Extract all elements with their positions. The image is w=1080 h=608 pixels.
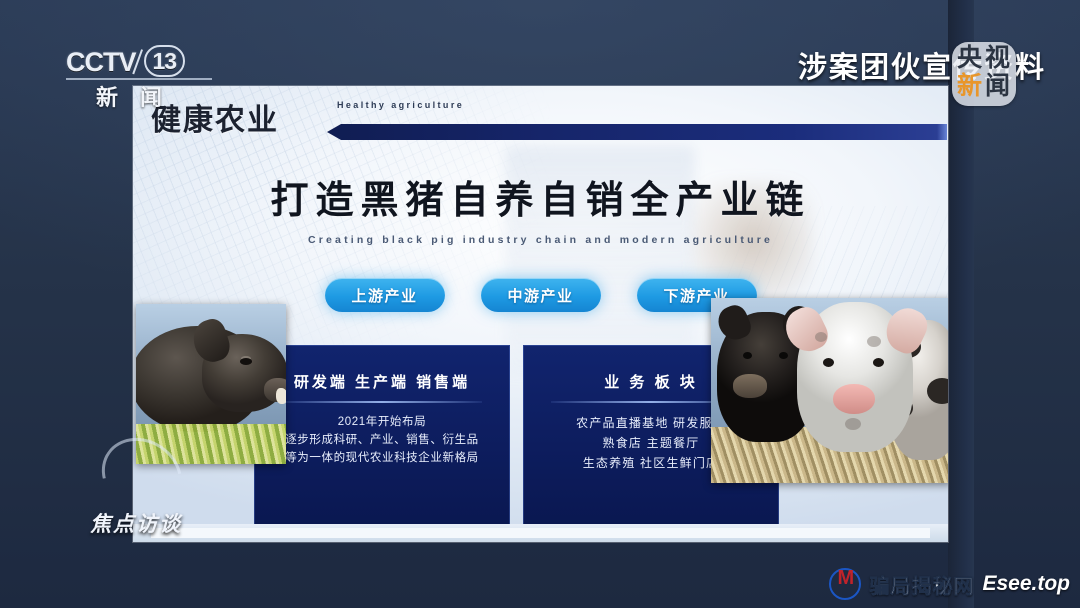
card-left-line-1: 2021年开始布局 [266, 413, 498, 431]
site-logo-icon [829, 568, 861, 600]
badge-char-shi: 视 [985, 46, 1010, 71]
cctv-channel-number: 13 [144, 45, 186, 77]
badge-char-yang: 央 [957, 46, 982, 71]
card-left-line-3: 等为一体的现代农业科技企业新格局 [266, 449, 498, 467]
pill-midstream[interactable]: 中游产业 [481, 278, 601, 312]
pill-upstream[interactable]: 上游产业 [325, 278, 445, 312]
left-arrow-bar-icon [327, 124, 947, 140]
card-title-left: 研发端 生产端 销售端 [254, 371, 510, 392]
card-body-left: 2021年开始布局 逐步形成科研、产业、销售、衍生品 等为一体的现代农业科技企业… [266, 413, 498, 467]
slide-footer-strip [133, 524, 948, 542]
program-logo: 焦点访谈 [90, 508, 182, 538]
black-pig-photo [136, 304, 286, 464]
piglets-photo [711, 298, 948, 483]
card-left-line-2: 逐步形成科研、产业、销售、衍生品 [266, 431, 498, 449]
broadcast-frame: 健康农业 Healthy agriculture 打造黑猪自养自销全产业链 Cr… [0, 0, 1080, 608]
presentation-slide: 健康农业 Healthy agriculture 打造黑猪自养自销全产业链 Cr… [133, 86, 948, 542]
site-watermark: 骗局揭秘网 Esee.top [829, 568, 1070, 600]
cctv-news-watermark-badge: 央 视 新 闻 [952, 42, 1016, 106]
site-watermark-cn: 骗局揭秘网 [869, 570, 974, 599]
info-card-rd-production-sales: 研发端 生产端 销售端 2021年开始布局 逐步形成科研、产业、销售、衍生品 等… [254, 345, 510, 530]
cctv-channel-logo: CCTV13 [66, 44, 212, 80]
site-watermark-en: Esee.top [982, 572, 1070, 596]
slide-header: 健康农业 Healthy agriculture [147, 98, 936, 156]
badge-char-wen: 闻 [985, 74, 1010, 99]
cctv-channel-sub: 新闻 [96, 80, 184, 112]
badge-char-xin: 新 [957, 74, 982, 99]
slide-headline-cn: 打造黑猪自养自销全产业链 [133, 182, 948, 220]
slide-headline-en: Creating black pig industry chain and mo… [133, 234, 948, 246]
card-divider-left [282, 401, 482, 403]
slide-title-en: Healthy agriculture [337, 100, 464, 110]
cctv-logo-text: CCTV [66, 47, 136, 77]
